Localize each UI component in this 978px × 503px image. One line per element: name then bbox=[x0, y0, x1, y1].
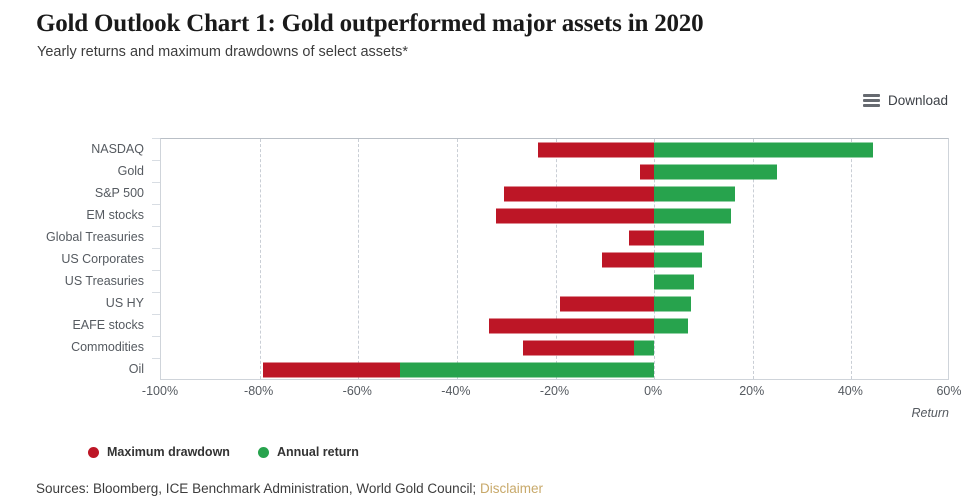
download-button[interactable]: Download bbox=[863, 93, 948, 108]
y-tick-label: Oil bbox=[129, 362, 144, 376]
sources-text: Sources: Bloomberg, ICE Benchmark Admini… bbox=[36, 481, 476, 496]
x-tick-label: 40% bbox=[838, 384, 863, 398]
y-axis-tick bbox=[152, 270, 160, 271]
y-axis-tick bbox=[152, 358, 160, 359]
y-axis-tick bbox=[152, 138, 160, 139]
y-tick-label: S&P 500 bbox=[95, 186, 144, 200]
y-tick-label: Gold bbox=[118, 164, 144, 178]
legend-label: Maximum drawdown bbox=[107, 445, 230, 459]
y-tick-label: EAFE stocks bbox=[72, 318, 144, 332]
legend-label: Annual return bbox=[277, 445, 359, 459]
gridline bbox=[260, 139, 261, 379]
bar-maximum-drawdown[interactable] bbox=[489, 319, 654, 334]
gridline bbox=[457, 139, 458, 379]
y-tick-label: Global Treasuries bbox=[46, 230, 144, 244]
x-axis-tick-labels: -100%-80%-60%-40%-20%0%20%40%60% bbox=[160, 384, 949, 406]
bar-annual-return[interactable] bbox=[654, 275, 693, 290]
legend-marker-icon bbox=[88, 447, 99, 458]
y-axis-tick bbox=[152, 314, 160, 315]
y-axis-tick bbox=[152, 292, 160, 293]
y-tick-label: US Treasuries bbox=[65, 274, 144, 288]
x-tick-label: 60% bbox=[936, 384, 961, 398]
y-tick-label: US Corporates bbox=[61, 252, 144, 266]
x-tick-label: -100% bbox=[142, 384, 178, 398]
bar-annual-return[interactable] bbox=[400, 363, 654, 378]
y-axis-tick bbox=[152, 204, 160, 205]
bar-annual-return[interactable] bbox=[654, 253, 702, 268]
disclaimer-link[interactable]: Disclaimer bbox=[480, 481, 543, 496]
y-tick-label: NASDAQ bbox=[91, 142, 144, 156]
x-tick-label: -80% bbox=[244, 384, 273, 398]
y-axis-tick bbox=[152, 336, 160, 337]
y-axis-tick bbox=[152, 248, 160, 249]
legend-marker-icon bbox=[258, 447, 269, 458]
y-tick-label: EM stocks bbox=[86, 208, 144, 222]
plot-area bbox=[160, 138, 949, 380]
bar-annual-return[interactable] bbox=[654, 187, 734, 202]
y-axis-tick bbox=[152, 182, 160, 183]
legend-item[interactable]: Annual return bbox=[258, 445, 359, 459]
bar-maximum-drawdown[interactable] bbox=[496, 209, 654, 224]
x-tick-label: -60% bbox=[343, 384, 372, 398]
y-tick-label: Commodities bbox=[71, 340, 144, 354]
bar-annual-return[interactable] bbox=[654, 231, 704, 246]
chart-legend: Maximum drawdownAnnual return bbox=[88, 445, 359, 459]
x-axis-title: Return bbox=[911, 406, 949, 420]
bar-maximum-drawdown[interactable] bbox=[504, 187, 654, 202]
gridline bbox=[358, 139, 359, 379]
bar-maximum-drawdown[interactable] bbox=[560, 297, 654, 312]
legend-item[interactable]: Maximum drawdown bbox=[88, 445, 230, 459]
bar-maximum-drawdown[interactable] bbox=[538, 143, 654, 158]
bar-annual-return[interactable] bbox=[654, 209, 730, 224]
bar-annual-return[interactable] bbox=[654, 143, 872, 158]
x-tick-label: -40% bbox=[441, 384, 470, 398]
y-axis-tick bbox=[152, 160, 160, 161]
download-label: Download bbox=[888, 93, 948, 108]
y-axis-tick bbox=[152, 226, 160, 227]
plot-wrapper: NASDAQGoldS&P 500EM stocksGlobal Treasur… bbox=[0, 138, 978, 388]
y-axis-category-labels: NASDAQGoldS&P 500EM stocksGlobal Treasur… bbox=[0, 138, 152, 380]
bar-annual-return[interactable] bbox=[654, 319, 688, 334]
x-tick-label: 0% bbox=[644, 384, 662, 398]
footer-sources: Sources: Bloomberg, ICE Benchmark Admini… bbox=[36, 481, 543, 496]
bar-annual-return[interactable] bbox=[634, 341, 654, 356]
bar-annual-return[interactable] bbox=[654, 165, 777, 180]
bar-maximum-drawdown[interactable] bbox=[640, 165, 654, 180]
gridline bbox=[851, 139, 852, 379]
y-tick-label: US HY bbox=[106, 296, 144, 310]
x-tick-label: 20% bbox=[739, 384, 764, 398]
page-subtitle: Yearly returns and maximum drawdowns of … bbox=[37, 44, 408, 60]
bar-annual-return[interactable] bbox=[654, 297, 691, 312]
bar-maximum-drawdown[interactable] bbox=[629, 231, 654, 246]
bar-maximum-drawdown[interactable] bbox=[602, 253, 654, 268]
x-tick-label: -20% bbox=[540, 384, 569, 398]
hamburger-icon bbox=[863, 94, 880, 107]
page-title: Gold Outlook Chart 1: Gold outperformed … bbox=[36, 10, 703, 38]
chart-page: Gold Outlook Chart 1: Gold outperformed … bbox=[0, 0, 978, 503]
